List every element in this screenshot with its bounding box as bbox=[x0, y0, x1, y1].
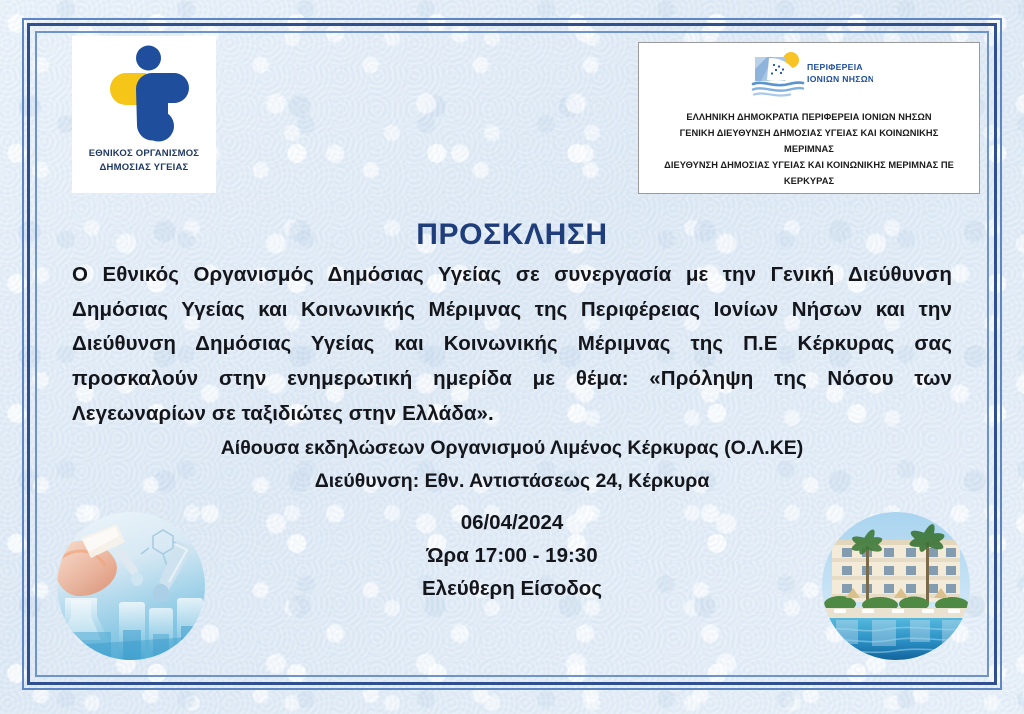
invitation-body-text: Ο Εθνικός Οργανισμός Δημόσιας Υγείας σε … bbox=[72, 258, 952, 431]
eody-logo-text: ΕΘΝΙΚΟΣ ΟΡΓΑΝΙΣΜΟΣ ΔΗΜΟΣΙΑΣ ΥΓΕΙΑΣ bbox=[89, 147, 199, 176]
venue-hall: Αίθουσα εκδηλώσεων Οργανισμού Λιμένος Κέ… bbox=[0, 432, 1024, 465]
eody-emblem-icon bbox=[84, 42, 204, 146]
svg-text:ΙΟΝΙΩΝ ΝΗΣΩΝ: ΙΟΝΙΩΝ ΝΗΣΩΝ bbox=[807, 74, 873, 84]
region-authority-text: ΕΛΛΗΝΙΚΗ ΔΗΜΟΚΡΑΤΙΑ ΠΕΡΙΦΕΡΕΙΑ ΙΟΝΙΩΝ ΝΗ… bbox=[658, 110, 960, 190]
venue-address: Διεύθυνση: Εθν. Αντιστάσεως 24, Κέρκυρα bbox=[0, 465, 1024, 498]
venue-details: Αίθουσα εκδηλώσεων Οργανισμού Λιμένος Κέ… bbox=[0, 432, 1024, 497]
region-text-line-1: ΕΛΛΗΝΙΚΗ ΔΗΜΟΚΡΑΤΙΑ ΠΕΡΙΦΕΡΕΙΑ ΙΟΝΙΩΝ ΝΗ… bbox=[664, 110, 954, 126]
svg-text:ΠΕΡΙΦΕΡΕΙΑ: ΠΕΡΙΦΕΡΕΙΑ bbox=[807, 62, 863, 72]
region-ionian-islands-emblem-icon: ΠΕΡΙΦΕΡΕΙΑ ΙΟΝΙΩΝ ΝΗΣΩΝ bbox=[745, 51, 873, 101]
region-text-line-2: ΓΕΝΙΚΗ ΔΙΕΥΘΥΝΣΗ ΔΗΜΟΣΙΑΣ ΥΓΕΙΑΣ ΚΑΙ ΚΟΙ… bbox=[664, 126, 954, 142]
invitation-title: ΠΡΟΣΚΛΗΣΗ bbox=[0, 218, 1024, 252]
eody-logo-line-1: ΕΘΝΙΚΟΣ ΟΡΓΑΝΙΣΜΟΣ bbox=[89, 147, 199, 161]
hotel-resort-pool-image bbox=[822, 512, 970, 660]
region-text-line-4: ΔΙΕΥΘΥΝΣΗ ΔΗΜΟΣΙΑΣ ΥΓΕΙΑΣ ΚΑΙ ΚΟΙΝΩΝΙΚΗΣ… bbox=[664, 158, 954, 174]
hotel-resort-photo bbox=[822, 512, 970, 660]
laboratory-pipette-image bbox=[57, 512, 205, 660]
eody-logo-line-2: ΔΗΜΟΣΙΑΣ ΥΓΕΙΑΣ bbox=[89, 161, 199, 175]
poster-content: ΕΘΝΙΚΟΣ ΟΡΓΑΝΙΣΜΟΣ ΔΗΜΟΣΙΑΣ ΥΓΕΙΑΣ ΠΕΡΙΦ… bbox=[0, 0, 1024, 714]
region-text-line-5: ΚΕΡΚΥΡΑΣ bbox=[664, 174, 954, 190]
laboratory-photo bbox=[57, 512, 205, 660]
region-text-line-3: ΜΕΡΙΜΝΑΣ bbox=[664, 142, 954, 158]
eody-logo: ΕΘΝΙΚΟΣ ΟΡΓΑΝΙΣΜΟΣ ΔΗΜΟΣΙΑΣ ΥΓΕΙΑΣ bbox=[72, 36, 216, 193]
region-authority-box: ΠΕΡΙΦΕΡΕΙΑ ΙΟΝΙΩΝ ΝΗΣΩΝ ΕΛΛΗΝΙΚΗ ΔΗΜΟΚΡΑ… bbox=[638, 42, 980, 194]
